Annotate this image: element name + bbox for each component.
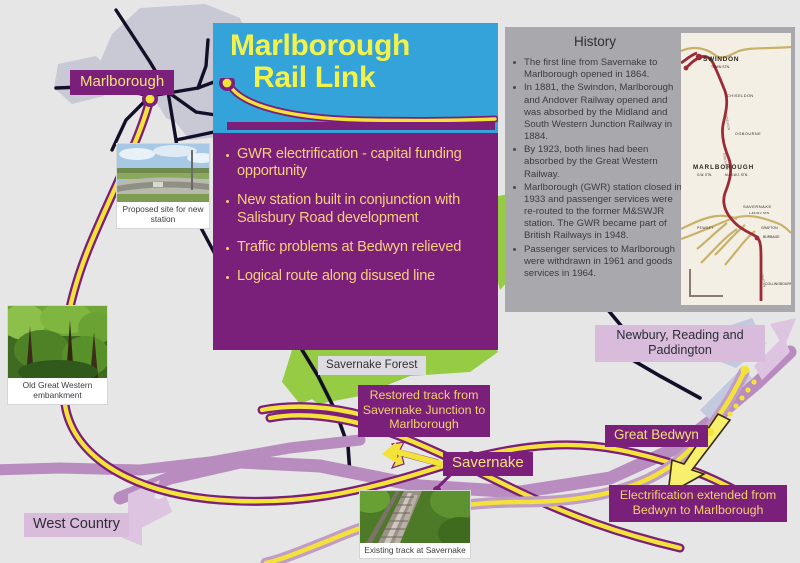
presentation-slide: Marlborough Rail Link GWR electrificatio… xyxy=(0,0,800,563)
benefit-item: New station built in conjunction with Sa… xyxy=(224,192,488,226)
map-label-electrification-extended[interactable]: Electrification extended from Bedwyn to … xyxy=(609,485,787,522)
svg-text:L.&S.W.J. STN.: L.&S.W.J. STN. xyxy=(749,211,770,215)
svg-text:GRAFTON: GRAFTON xyxy=(761,226,778,230)
history-title: History xyxy=(505,34,685,49)
svg-text:MARLBOROUGH: MARLBOROUGH xyxy=(693,164,754,171)
map-label-west-country[interactable]: West Country xyxy=(24,513,129,537)
history-item: By 1923, both lines had been absorbed by… xyxy=(509,144,685,181)
map-label-restored-track[interactable]: Restored track from Savernake Junction t… xyxy=(358,385,490,437)
history-item: The first line from Savernake to Marlbor… xyxy=(509,57,685,81)
svg-text:TOWN STN.: TOWN STN. xyxy=(711,65,730,69)
benefit-item: Traffic problems at Bedwyn relieved xyxy=(224,239,488,256)
history-item: Passenger services to Marlborough were w… xyxy=(509,244,685,281)
svg-text:G.W. STN.: G.W. STN. xyxy=(697,173,712,177)
photo-image xyxy=(360,491,470,543)
benefits-list: GWR electrification - capital funding op… xyxy=(224,146,488,285)
historic-railway-map-image: SWINDON TOWN STN. CHISELDON OGBOURNE MAR… xyxy=(681,33,791,305)
map-label-newbury-reading-paddington[interactable]: Newbury, Reading and Paddington xyxy=(595,325,765,362)
photo-proposed-station: Proposed site for new station xyxy=(117,144,209,228)
photo-existing-track: Existing track at Savernake xyxy=(360,491,470,558)
svg-text:M.&S.W.J. STN.: M.&S.W.J. STN. xyxy=(725,173,748,177)
photo-image xyxy=(117,144,209,202)
benefit-item: GWR electrification - capital funding op… xyxy=(224,146,488,180)
photo-old-embankment: Old Great Western embankment xyxy=(8,306,107,404)
photo-caption: Old Great Western embankment xyxy=(8,378,107,404)
svg-text:CHISELDON: CHISELDON xyxy=(727,94,754,98)
svg-text:SAVERNAKE: SAVERNAKE xyxy=(743,204,772,209)
map-label-great-bedwyn[interactable]: Great Bedwyn xyxy=(605,425,708,447)
benefit-item: Logical route along disused line xyxy=(224,268,488,285)
title-card: Marlborough Rail Link xyxy=(213,23,498,133)
svg-text:COLLINGBOURNE: COLLINGBOURNE xyxy=(765,282,791,286)
benefits-card: GWR electrification - capital funding op… xyxy=(213,133,498,350)
map-label-marlborough[interactable]: Marlborough xyxy=(70,70,174,95)
svg-text:PEWSEY: PEWSEY xyxy=(697,226,714,230)
svg-text:SWINDON: SWINDON xyxy=(703,56,739,63)
photo-image xyxy=(8,306,107,378)
history-item: In 1881, the Swindon, Marlborough and An… xyxy=(509,82,685,143)
logo-swoosh xyxy=(213,78,498,133)
map-label-savernake-forest[interactable]: Savernake Forest xyxy=(318,356,426,375)
map-label-savernake[interactable]: Savernake xyxy=(443,452,533,476)
history-list: The first line from Savernake to Marlbor… xyxy=(509,57,685,281)
svg-text:BURBAGE: BURBAGE xyxy=(763,235,780,239)
title-line-1: Marlborough xyxy=(230,31,410,62)
photo-caption: Proposed site for new station xyxy=(117,202,209,228)
history-item: Marlborough (GWR) station closed in 1933… xyxy=(509,182,685,243)
photo-caption: Existing track at Savernake xyxy=(360,543,470,558)
svg-text:OGBOURNE: OGBOURNE xyxy=(735,132,761,136)
